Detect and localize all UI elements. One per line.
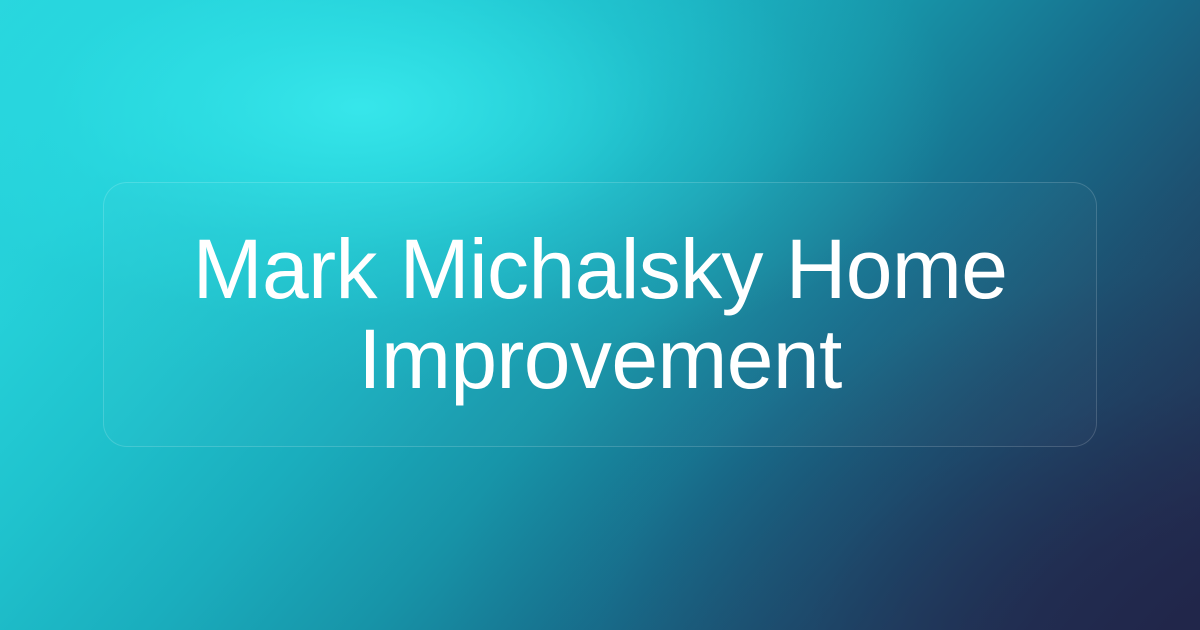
- title-card: Mark Michalsky Home Improvement: [103, 182, 1097, 447]
- page-title: Mark Michalsky Home Improvement: [150, 225, 1050, 403]
- social-preview-banner: Mark Michalsky Home Improvement: [0, 0, 1200, 630]
